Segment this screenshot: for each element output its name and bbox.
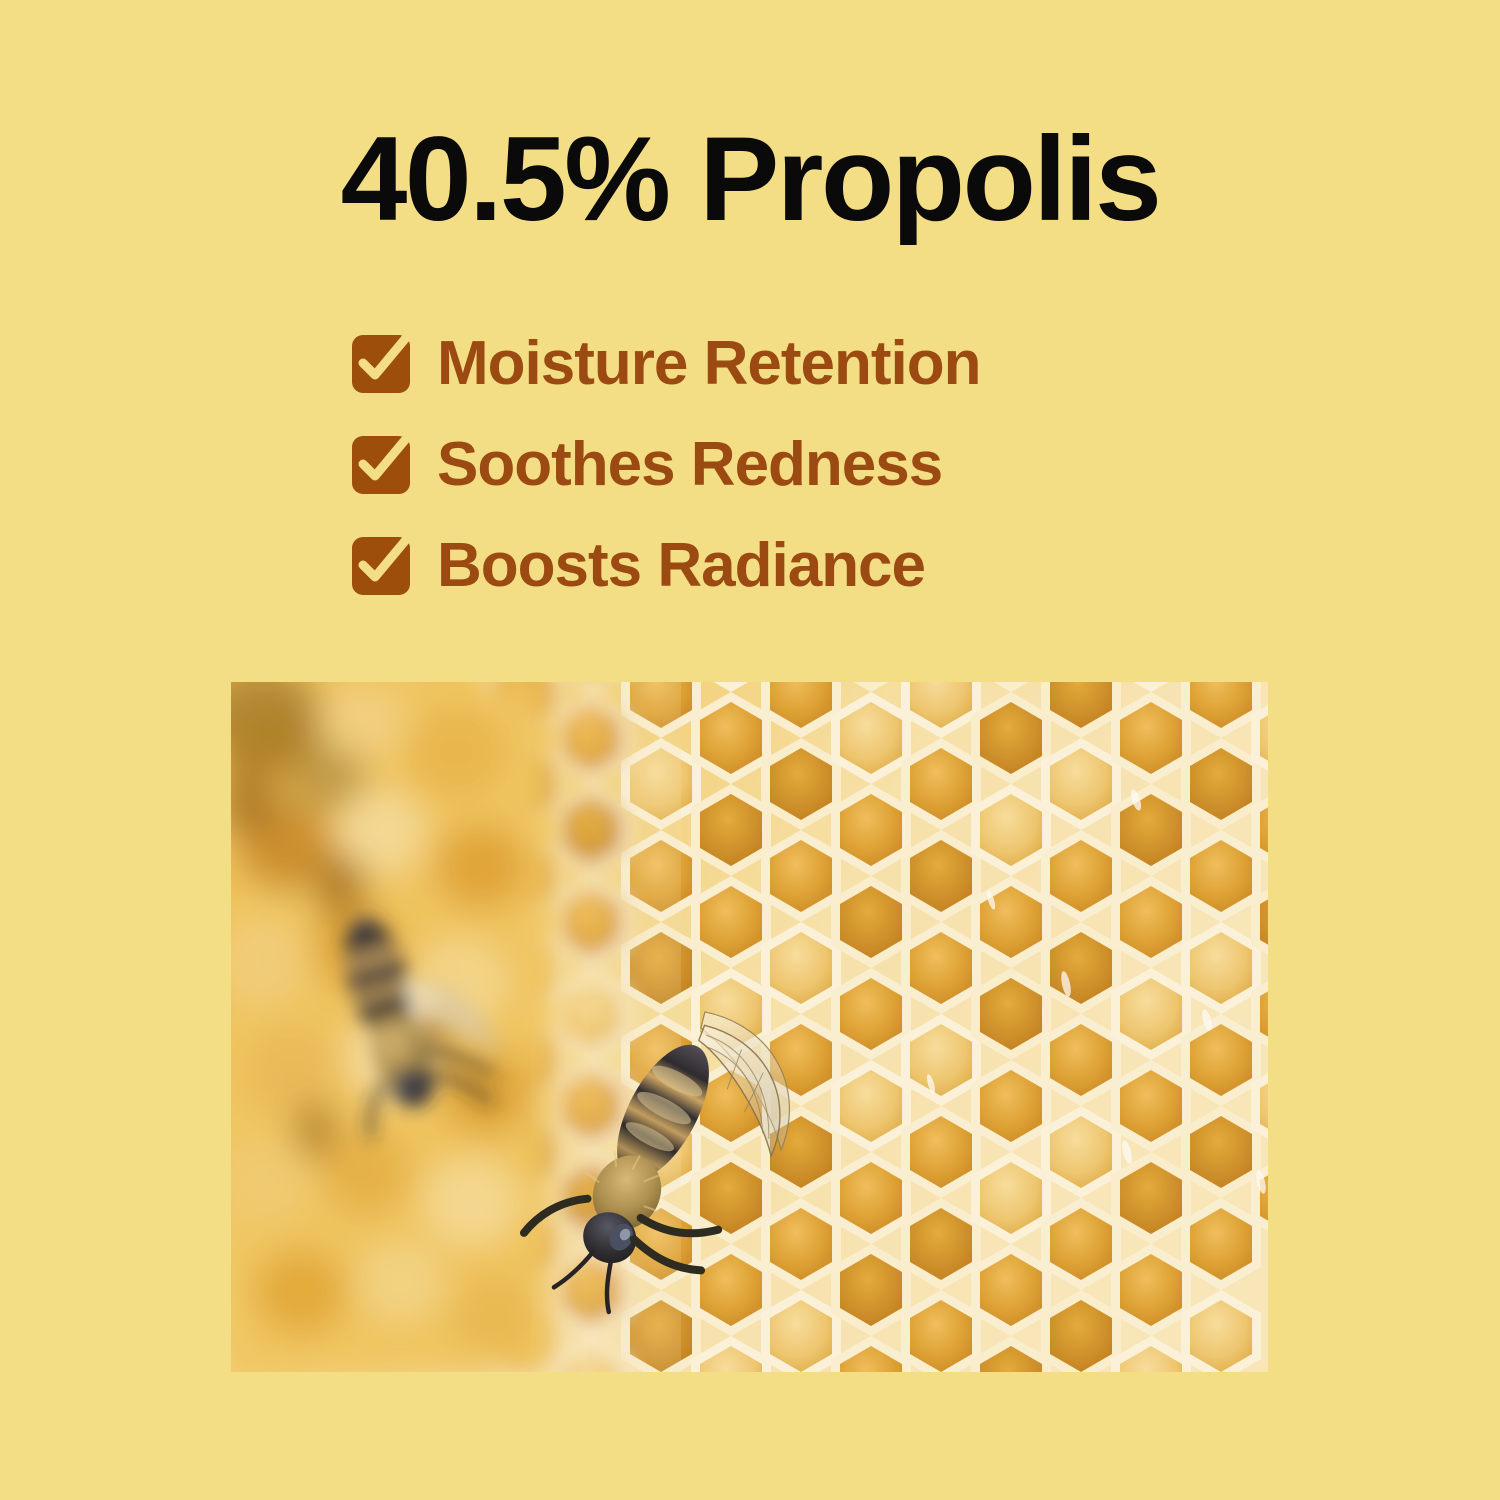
checkbox-checked-icon	[352, 537, 410, 595]
page-title: 40.5% Propolis	[0, 118, 1500, 240]
list-item-label: Moisture Retention	[437, 333, 980, 395]
list-item: Moisture Retention	[352, 328, 1252, 400]
list-item-label: Soothes Redness	[437, 434, 942, 496]
list-item: Boosts Radiance	[352, 530, 1252, 602]
product-feature-poster: 40.5% Propolis Moisture Retention Soothe…	[0, 0, 1500, 1500]
checkbox-checked-icon	[352, 335, 410, 393]
checkbox-checked-icon	[352, 436, 410, 494]
list-item: Soothes Redness	[352, 429, 1252, 501]
benefits-list: Moisture Retention Soothes Redness Boost…	[352, 328, 1252, 602]
honeycomb-bees-photo	[231, 682, 1268, 1372]
list-item-label: Boosts Radiance	[437, 535, 925, 597]
